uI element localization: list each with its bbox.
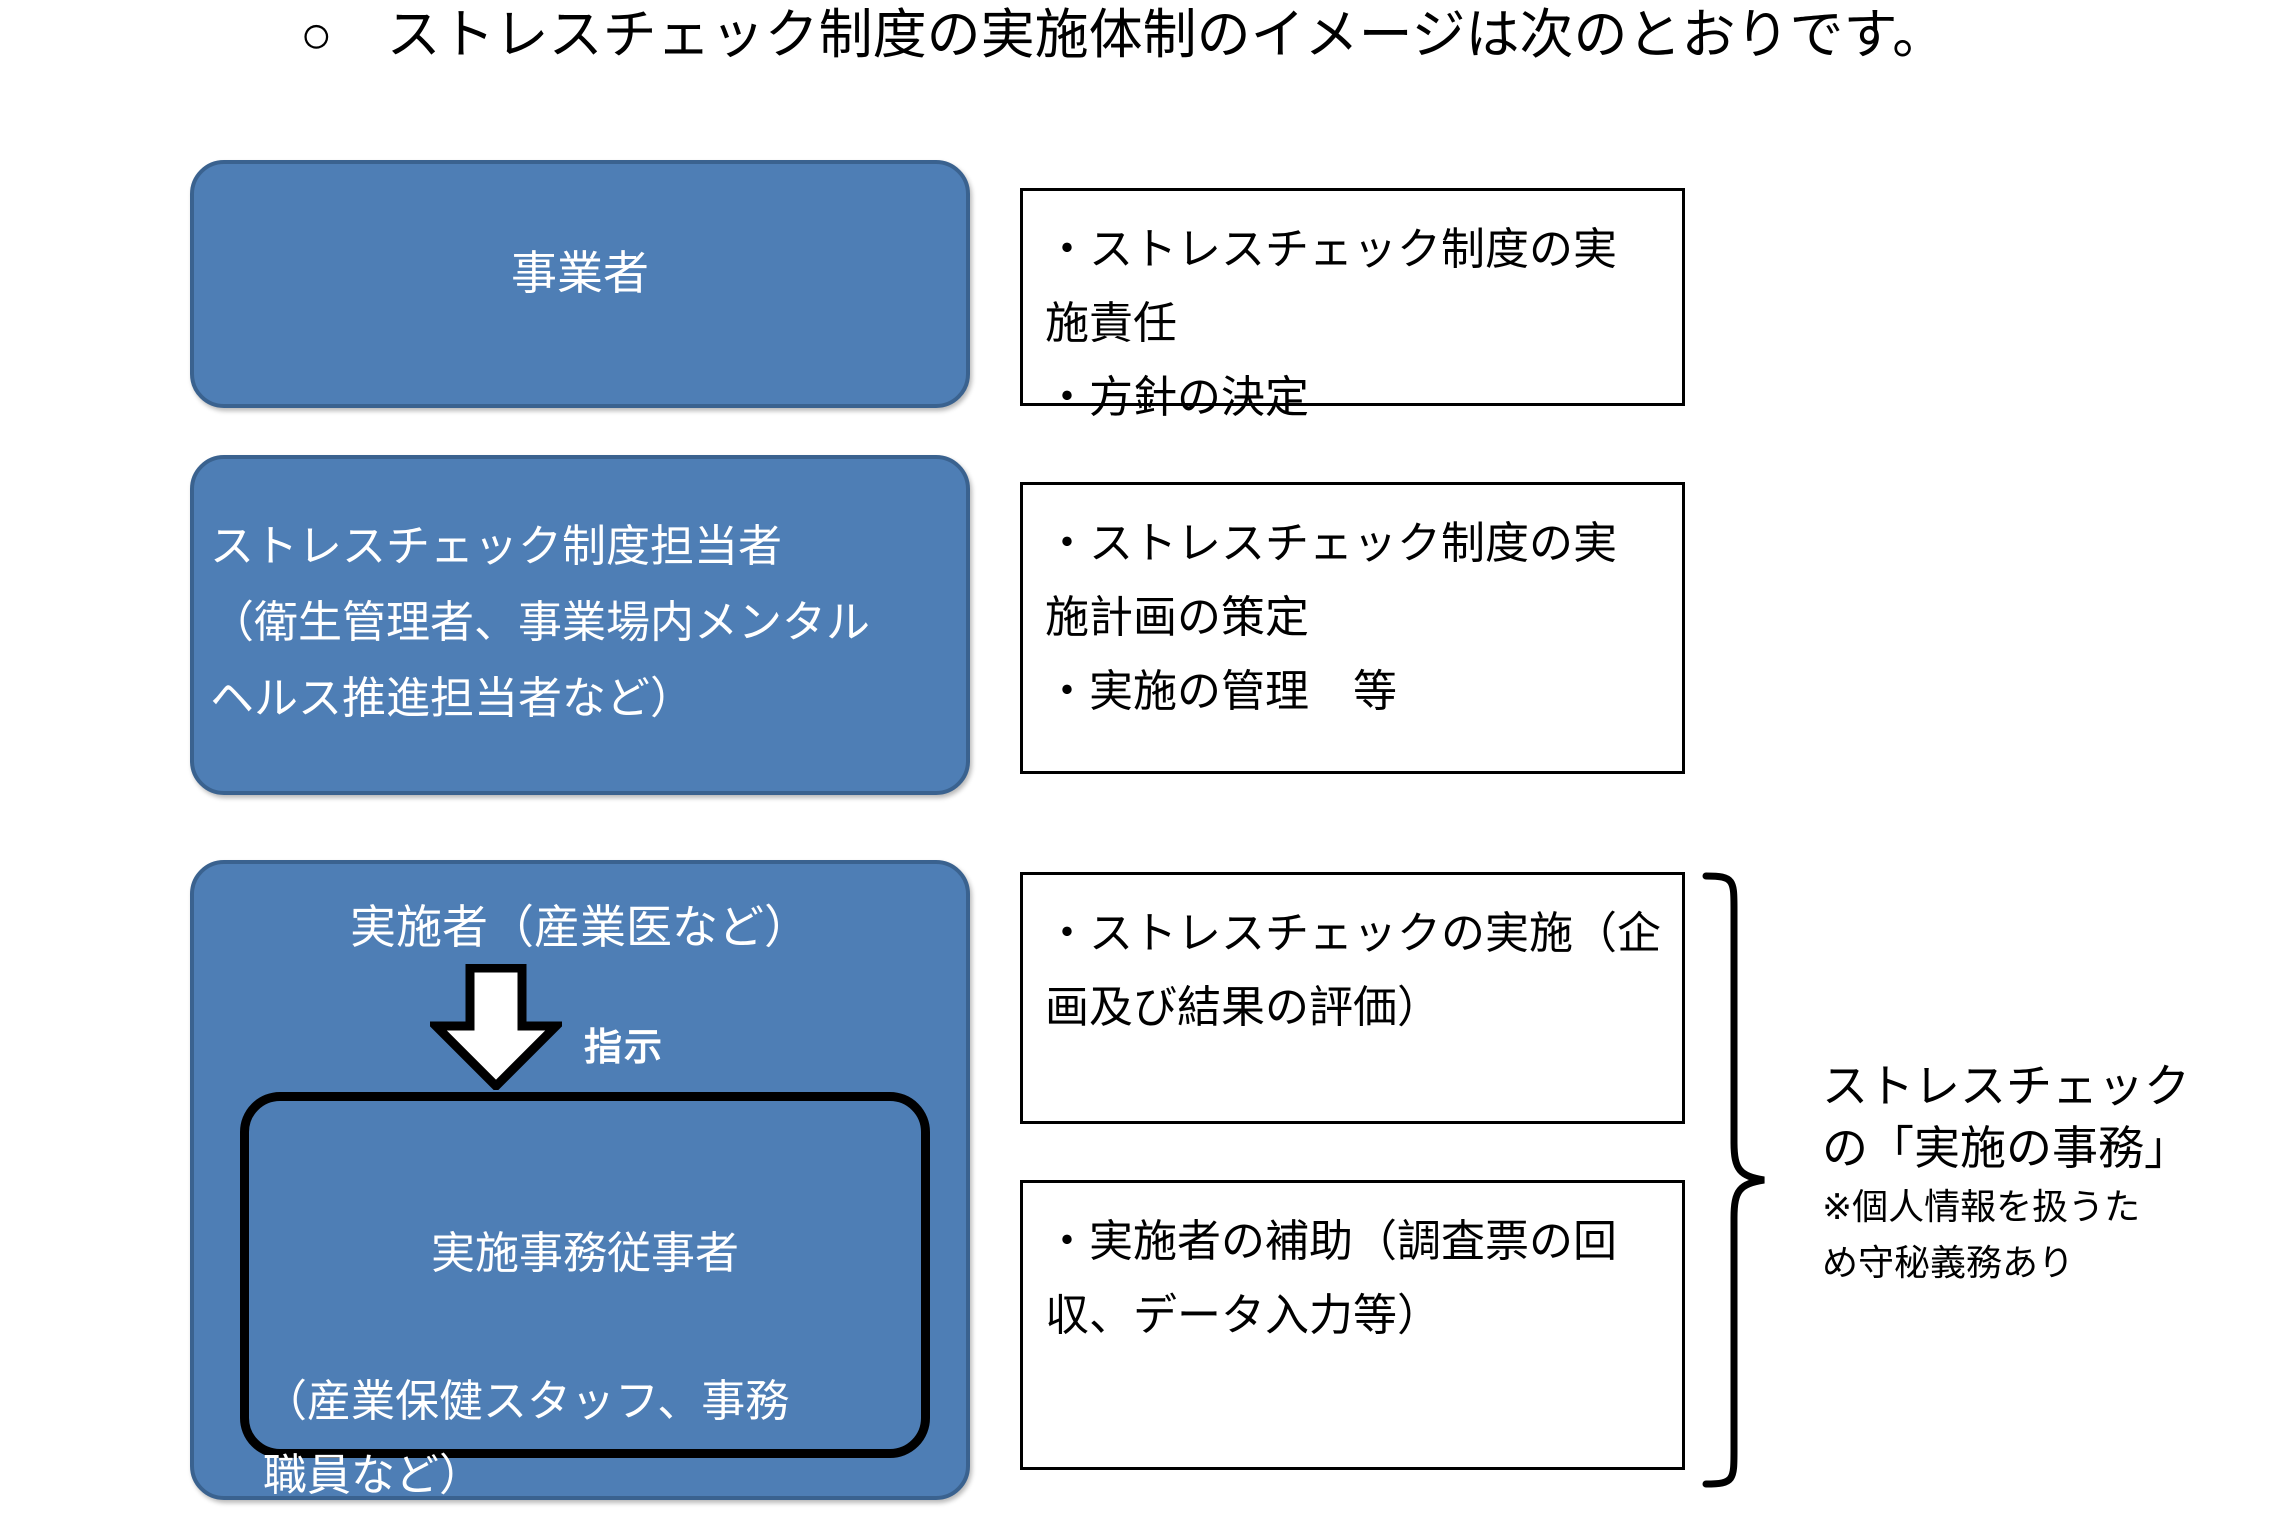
annotation-block: ストレスチェック の「実施の事務」 ※個人情報を扱うた め守秘義務あり xyxy=(1822,1055,2252,1291)
note-text-staff: ・実施者の補助（調査票の回 収、データ入力等） xyxy=(1045,1205,1672,1353)
annotation-main-text: ストレスチェック の「実施の事務」 xyxy=(1822,1055,2252,1179)
note-text-manager: ・ストレスチェック制度の実 施計画の策定 ・実施の管理 等 xyxy=(1045,507,1672,729)
note-text-employer: ・ストレスチェック制度の実 施責任 ・方針の決定 xyxy=(1045,213,1672,435)
arrow-label-instruction: 指示 xyxy=(584,1016,664,1071)
role-label-stress-check-manager: ストレスチェック制度担当者 （衛生管理者、事業場内メンタル ヘルス推進担当者など… xyxy=(194,509,966,737)
role-label-implementation-staff-line2: （産業保健スタッフ、事務 職員など） xyxy=(263,1365,907,1513)
role-label-implementer: 実施者（産業医など） xyxy=(194,896,966,958)
role-box-stress-check-manager: ストレスチェック制度担当者 （衛生管理者、事業場内メンタル ヘルス推進担当者など… xyxy=(190,455,970,795)
note-box-implementer: ・ストレスチェックの実施（企 画及び結果の評価） xyxy=(1020,872,1685,1124)
down-arrow-icon xyxy=(430,964,562,1090)
role-box-implementation-staff: 実施事務従事者 （産業保健スタッフ、事務 職員など） xyxy=(240,1092,930,1458)
note-box-manager: ・ストレスチェック制度の実 施計画の策定 ・実施の管理 等 xyxy=(1020,482,1685,774)
role-box-employer: 事業者 xyxy=(190,160,970,408)
page-title: ○ ストレスチェック制度の実施体制のイメージは次のとおりです。 xyxy=(300,2,1946,68)
note-box-employer: ・ストレスチェック制度の実 施責任 ・方針の決定 xyxy=(1020,188,1685,406)
diagram-canvas: ○ ストレスチェック制度の実施体制のイメージは次のとおりです。 事業者 ストレス… xyxy=(0,0,2272,1533)
note-box-staff: ・実施者の補助（調査票の回 収、データ入力等） xyxy=(1020,1180,1685,1470)
role-box-implementer: 実施者（産業医など） 指示 実施事務従事者 （産業保健スタッフ、事務 職員など） xyxy=(190,860,970,1500)
role-label-implementation-staff: 実施事務従事者 （産業保健スタッフ、事務 職員など） xyxy=(263,1143,907,1533)
role-label-employer: 事業者 xyxy=(194,242,966,304)
role-label-implementation-staff-line1: 実施事務従事者 xyxy=(263,1217,907,1291)
annotation-sub-text: ※個人情報を扱うた め守秘義務あり xyxy=(1822,1179,2252,1291)
note-text-implementer: ・ストレスチェックの実施（企 画及び結果の評価） xyxy=(1045,897,1672,1045)
curly-brace-icon xyxy=(1700,870,1770,1490)
